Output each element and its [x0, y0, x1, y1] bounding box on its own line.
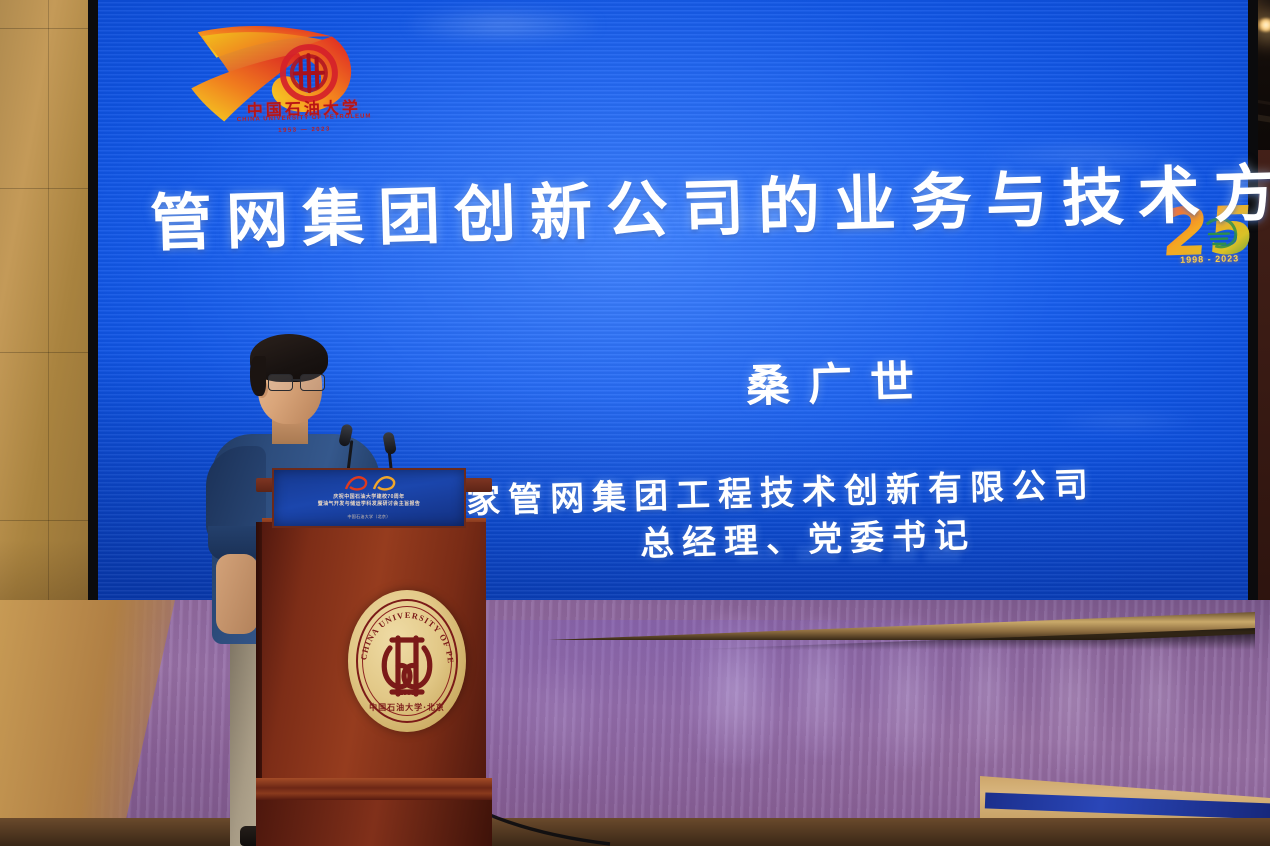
speaker-arm	[216, 554, 258, 634]
presentation-photo: 中国石油大学 CHINA UNIVERSITY OF PETROLEUM 195…	[0, 0, 1270, 846]
podium-sign: 庆祝中国石油大学建校70周年 暨油气开发与储运学科发展研讨会主旨报告 中国石油大…	[272, 468, 466, 528]
podium-plinth	[256, 800, 492, 846]
slide-role: 总经理、党委书记	[639, 508, 976, 566]
screen-reflection	[408, 8, 598, 42]
svg-text:CHINA UNIVERSITY OF PETROLEUM: CHINA UNIVERSITY OF PETROLEUM	[348, 590, 455, 664]
slide-speaker-name: 桑广世	[745, 346, 933, 415]
podium-base	[256, 778, 492, 800]
glasses-icon	[268, 374, 324, 390]
podium: 庆祝中国石油大学建校70周年 暨油气开发与储运学科发展研讨会主旨报告 中国石油大…	[256, 478, 492, 846]
70-anniversary-logo: 中国石油大学 CHINA UNIVERSITY OF PETROLEUM 195…	[181, 5, 375, 148]
screen-reflection	[1048, 410, 1198, 432]
china-university-of-petroleum-emblem: CHINA UNIVERSITY OF PETROLEUM 1953 中国石油大…	[348, 590, 466, 732]
ceiling-spotlight	[1256, 18, 1270, 32]
floor-cables	[0, 600, 1270, 846]
podium-sign-logo	[340, 473, 398, 493]
speaker-hair-side	[250, 356, 266, 396]
emblem-year: 1953	[348, 690, 466, 697]
podium-sign-line3: 中国石油大学（北京）	[280, 514, 458, 520]
emblem-name-cn: 中国石油大学·北京	[348, 702, 466, 713]
podium-sign-line1: 庆祝中国石油大学建校70周年 暨油气开发与储运学科发展研讨会主旨报告	[280, 494, 458, 508]
